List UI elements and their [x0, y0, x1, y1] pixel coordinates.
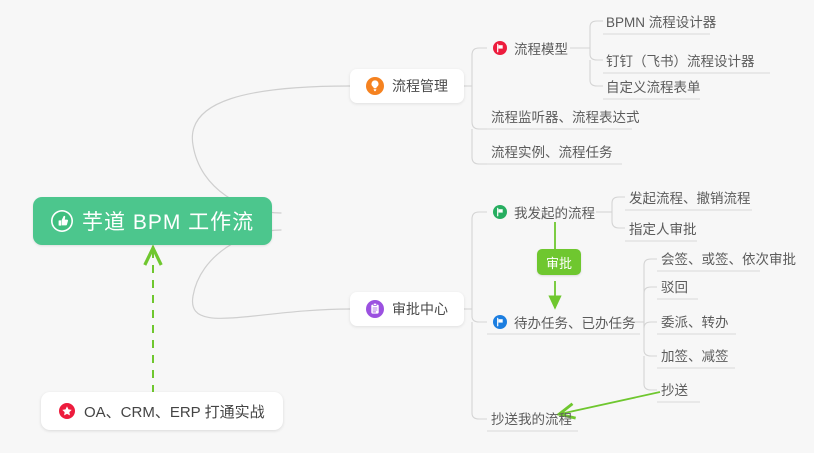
node-label: 抄送: [661, 379, 688, 399]
node-label: 流程模型: [514, 38, 568, 58]
flag-icon: [493, 41, 507, 55]
node-label: BPMN 流程设计器: [606, 11, 716, 31]
node-custom-process-form[interactable]: 自定义流程表单: [600, 72, 707, 100]
root-node[interactable]: 芋道 BPM 工作流: [33, 197, 272, 245]
node-label: 抄送我的流程: [491, 408, 572, 428]
node-label: 流程实例、流程任务: [491, 141, 613, 161]
node-dingtalk-feishu-designer[interactable]: 钉钉（飞书）流程设计器: [600, 46, 761, 74]
node-process-model[interactable]: 流程模型: [489, 34, 574, 62]
lightbulb-icon: [366, 77, 384, 95]
node-label: 发起流程、撤销流程: [629, 187, 751, 207]
approval-tag: 审批: [537, 249, 581, 275]
branch-node-approval-center[interactable]: 审批中心: [350, 292, 464, 326]
node-assignee-approval[interactable]: 指定人审批: [623, 214, 703, 242]
node-reject[interactable]: 驳回: [655, 272, 694, 300]
root-label: 芋道 BPM 工作流: [82, 206, 254, 236]
thumbs-up-icon: [51, 210, 73, 232]
node-cc-to-me-process[interactable]: 抄送我的流程: [485, 404, 578, 432]
node-delegate-transfer[interactable]: 委派、转办: [655, 307, 735, 335]
flag-icon: [493, 205, 507, 219]
callout-label: OA、CRM、ERP 打通实战: [84, 401, 265, 422]
node-todo-done-tasks[interactable]: 待办任务、已办任务: [489, 308, 642, 336]
node-process-instance-task[interactable]: 流程实例、流程任务: [485, 137, 619, 165]
node-label: 待办任务、已办任务: [514, 312, 636, 332]
node-label: 驳回: [661, 276, 688, 296]
node-bpmn-designer[interactable]: BPMN 流程设计器: [600, 7, 722, 35]
node-label: 指定人审批: [629, 218, 697, 238]
branch-node-process-management[interactable]: 流程管理: [350, 69, 464, 103]
mindmap-canvas: 芋道 BPM 工作流 流程管理 流程模型 BPMN 流程设计器 钉钉（飞书）流程: [0, 0, 814, 453]
node-my-initiated-process[interactable]: 我发起的流程: [489, 198, 601, 226]
clipboard-icon: [366, 300, 384, 318]
node-countersign-orsign-sequential[interactable]: 会签、或签、依次审批: [655, 244, 802, 272]
node-process-listener-expression[interactable]: 流程监听器、流程表达式: [485, 102, 646, 130]
node-cc[interactable]: 抄送: [655, 375, 694, 403]
approval-tag-label: 审批: [546, 253, 572, 272]
node-add-remove-sign[interactable]: 加签、减签: [655, 341, 735, 369]
node-label: 我发起的流程: [514, 202, 595, 222]
node-label: 钉钉（飞书）流程设计器: [606, 50, 755, 70]
node-start-cancel-process[interactable]: 发起流程、撤销流程: [623, 183, 757, 211]
node-label: 加签、减签: [661, 345, 729, 365]
branch-label: 审批中心: [392, 299, 448, 319]
node-label: 会签、或签、依次审批: [661, 248, 796, 268]
flag-icon: [493, 315, 507, 329]
branch-label: 流程管理: [392, 76, 448, 96]
callout-node[interactable]: OA、CRM、ERP 打通实战: [41, 392, 283, 430]
node-label: 流程监听器、流程表达式: [491, 106, 640, 126]
node-label: 自定义流程表单: [606, 76, 701, 96]
star-icon: [59, 403, 75, 419]
node-label: 委派、转办: [661, 311, 729, 331]
